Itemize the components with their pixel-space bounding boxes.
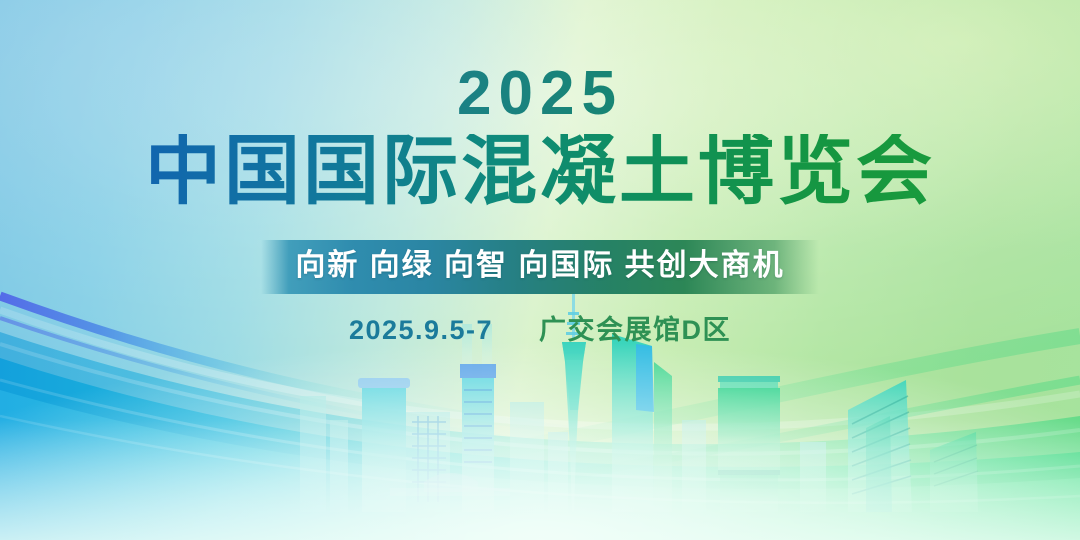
poster-venue: 广交会展馆D区 [539,315,731,345]
poster-slogan: 向新 向绿 向智 向国际 共创大商机 [261,240,818,294]
poster-year: 2025 [0,63,1080,125]
poster-dateline: 2025.9.5-7广交会展馆D区 [0,308,1080,347]
poster-content: 2025 中国国际混凝土博览会 向新 向绿 向智 向国际 共创大商机 2025.… [0,0,1080,540]
poster-slogan-container: 向新 向绿 向智 向国际 共创大商机 [0,240,1080,294]
event-poster: 2025 中国国际混凝土博览会 向新 向绿 向智 向国际 共创大商机 2025.… [0,0,1080,540]
poster-date: 2025.9.5-7 [349,315,493,345]
poster-main-title: 中国国际混凝土博览会 [0,134,1080,210]
